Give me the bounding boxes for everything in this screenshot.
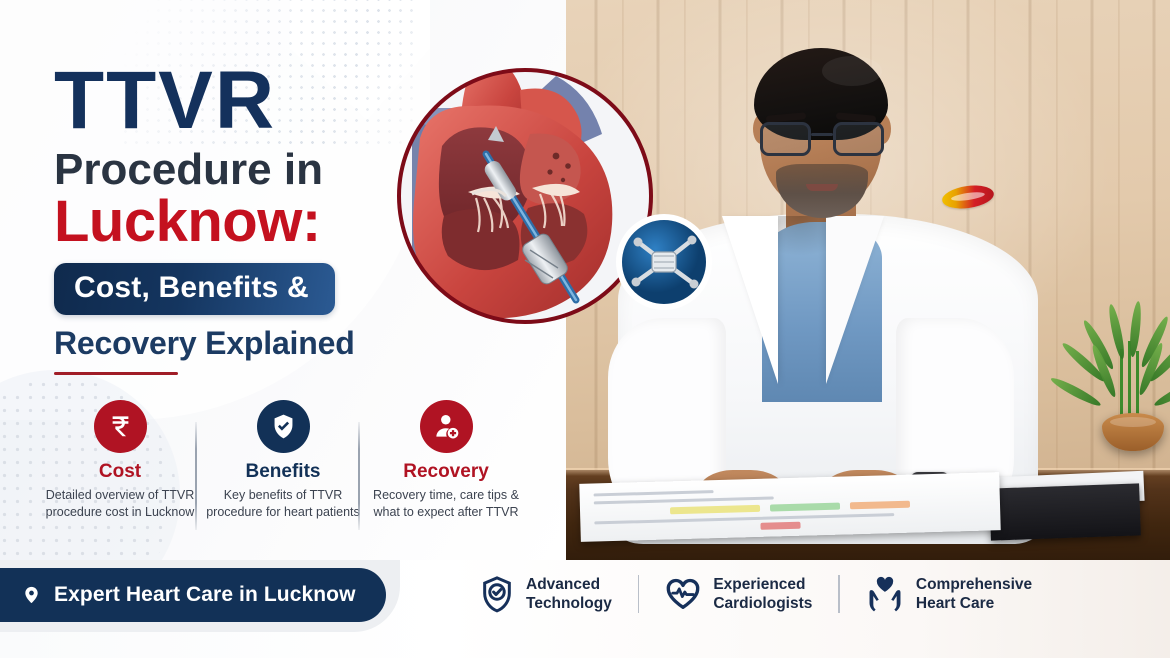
feature-description: Key benefits of TTVR procedure for heart… <box>205 487 361 522</box>
feature-card-cost[interactable]: Cost Detailed overview of TTVR procedure… <box>42 400 198 522</box>
rupee-icon <box>94 400 147 453</box>
hands-heart-icon <box>866 575 904 613</box>
badge-label: Expert Heart Care in Lucknow <box>54 583 356 607</box>
trust-item-advanced-technology[interactable]: AdvancedTechnology <box>480 574 612 614</box>
trust-divider <box>838 575 840 613</box>
feature-card-benefits[interactable]: Benefits Key benefits of TTVR procedure … <box>205 400 361 522</box>
eyeglasses <box>758 122 886 156</box>
trust-label: ComprehensiveHeart Care <box>916 575 1032 614</box>
hospital-logo <box>941 182 996 211</box>
heart-pulse-icon <box>665 576 701 612</box>
feature-description: Recovery time, care tips & what to expec… <box>368 487 524 522</box>
desk-folder <box>989 483 1141 540</box>
feature-title: Recovery <box>368 462 524 481</box>
trust-item-comprehensive-heart-care[interactable]: ComprehensiveHeart Care <box>866 575 1032 614</box>
feature-description: Detailed overview of TTVR procedure cost… <box>42 487 198 522</box>
trust-label: ExperiencedCardiologists <box>713 575 812 614</box>
bottom-bar: Expert Heart Care in Lucknow AdvancedTec… <box>0 560 1170 658</box>
headline-pill: Cost, Benefits & <box>54 263 335 315</box>
trust-label: AdvancedTechnology <box>526 575 612 614</box>
feature-divider <box>195 422 197 530</box>
desk-documents <box>579 472 1000 542</box>
banner-root: TTVR Procedure in Lucknow: Cost, Benefit… <box>0 0 1170 658</box>
feature-title: Cost <box>42 462 198 481</box>
headline-recovery: Recovery Explained <box>54 325 484 362</box>
feature-title: Benefits <box>205 462 361 481</box>
feature-divider <box>358 422 360 530</box>
trust-divider <box>638 575 640 613</box>
expert-heart-care-badge[interactable]: Expert Heart Care in Lucknow <box>0 568 386 622</box>
device-inset-circle <box>614 212 714 312</box>
trust-list: AdvancedTechnology ExperiencedCardiologi… <box>480 574 1032 614</box>
shield-check-icon <box>257 400 310 453</box>
bamboo-plant <box>1080 283 1170 473</box>
trust-item-experienced-cardiologists[interactable]: ExperiencedCardiologists <box>665 575 812 614</box>
location-pin-icon <box>22 583 41 607</box>
shield-check-icon <box>480 574 514 614</box>
patient-plus-icon <box>420 400 473 453</box>
headline-underline <box>54 372 178 375</box>
feature-card-recovery[interactable]: Recovery Recovery time, care tips & what… <box>368 400 524 522</box>
feature-list: Cost Detailed overview of TTVR procedure… <box>42 400 542 522</box>
